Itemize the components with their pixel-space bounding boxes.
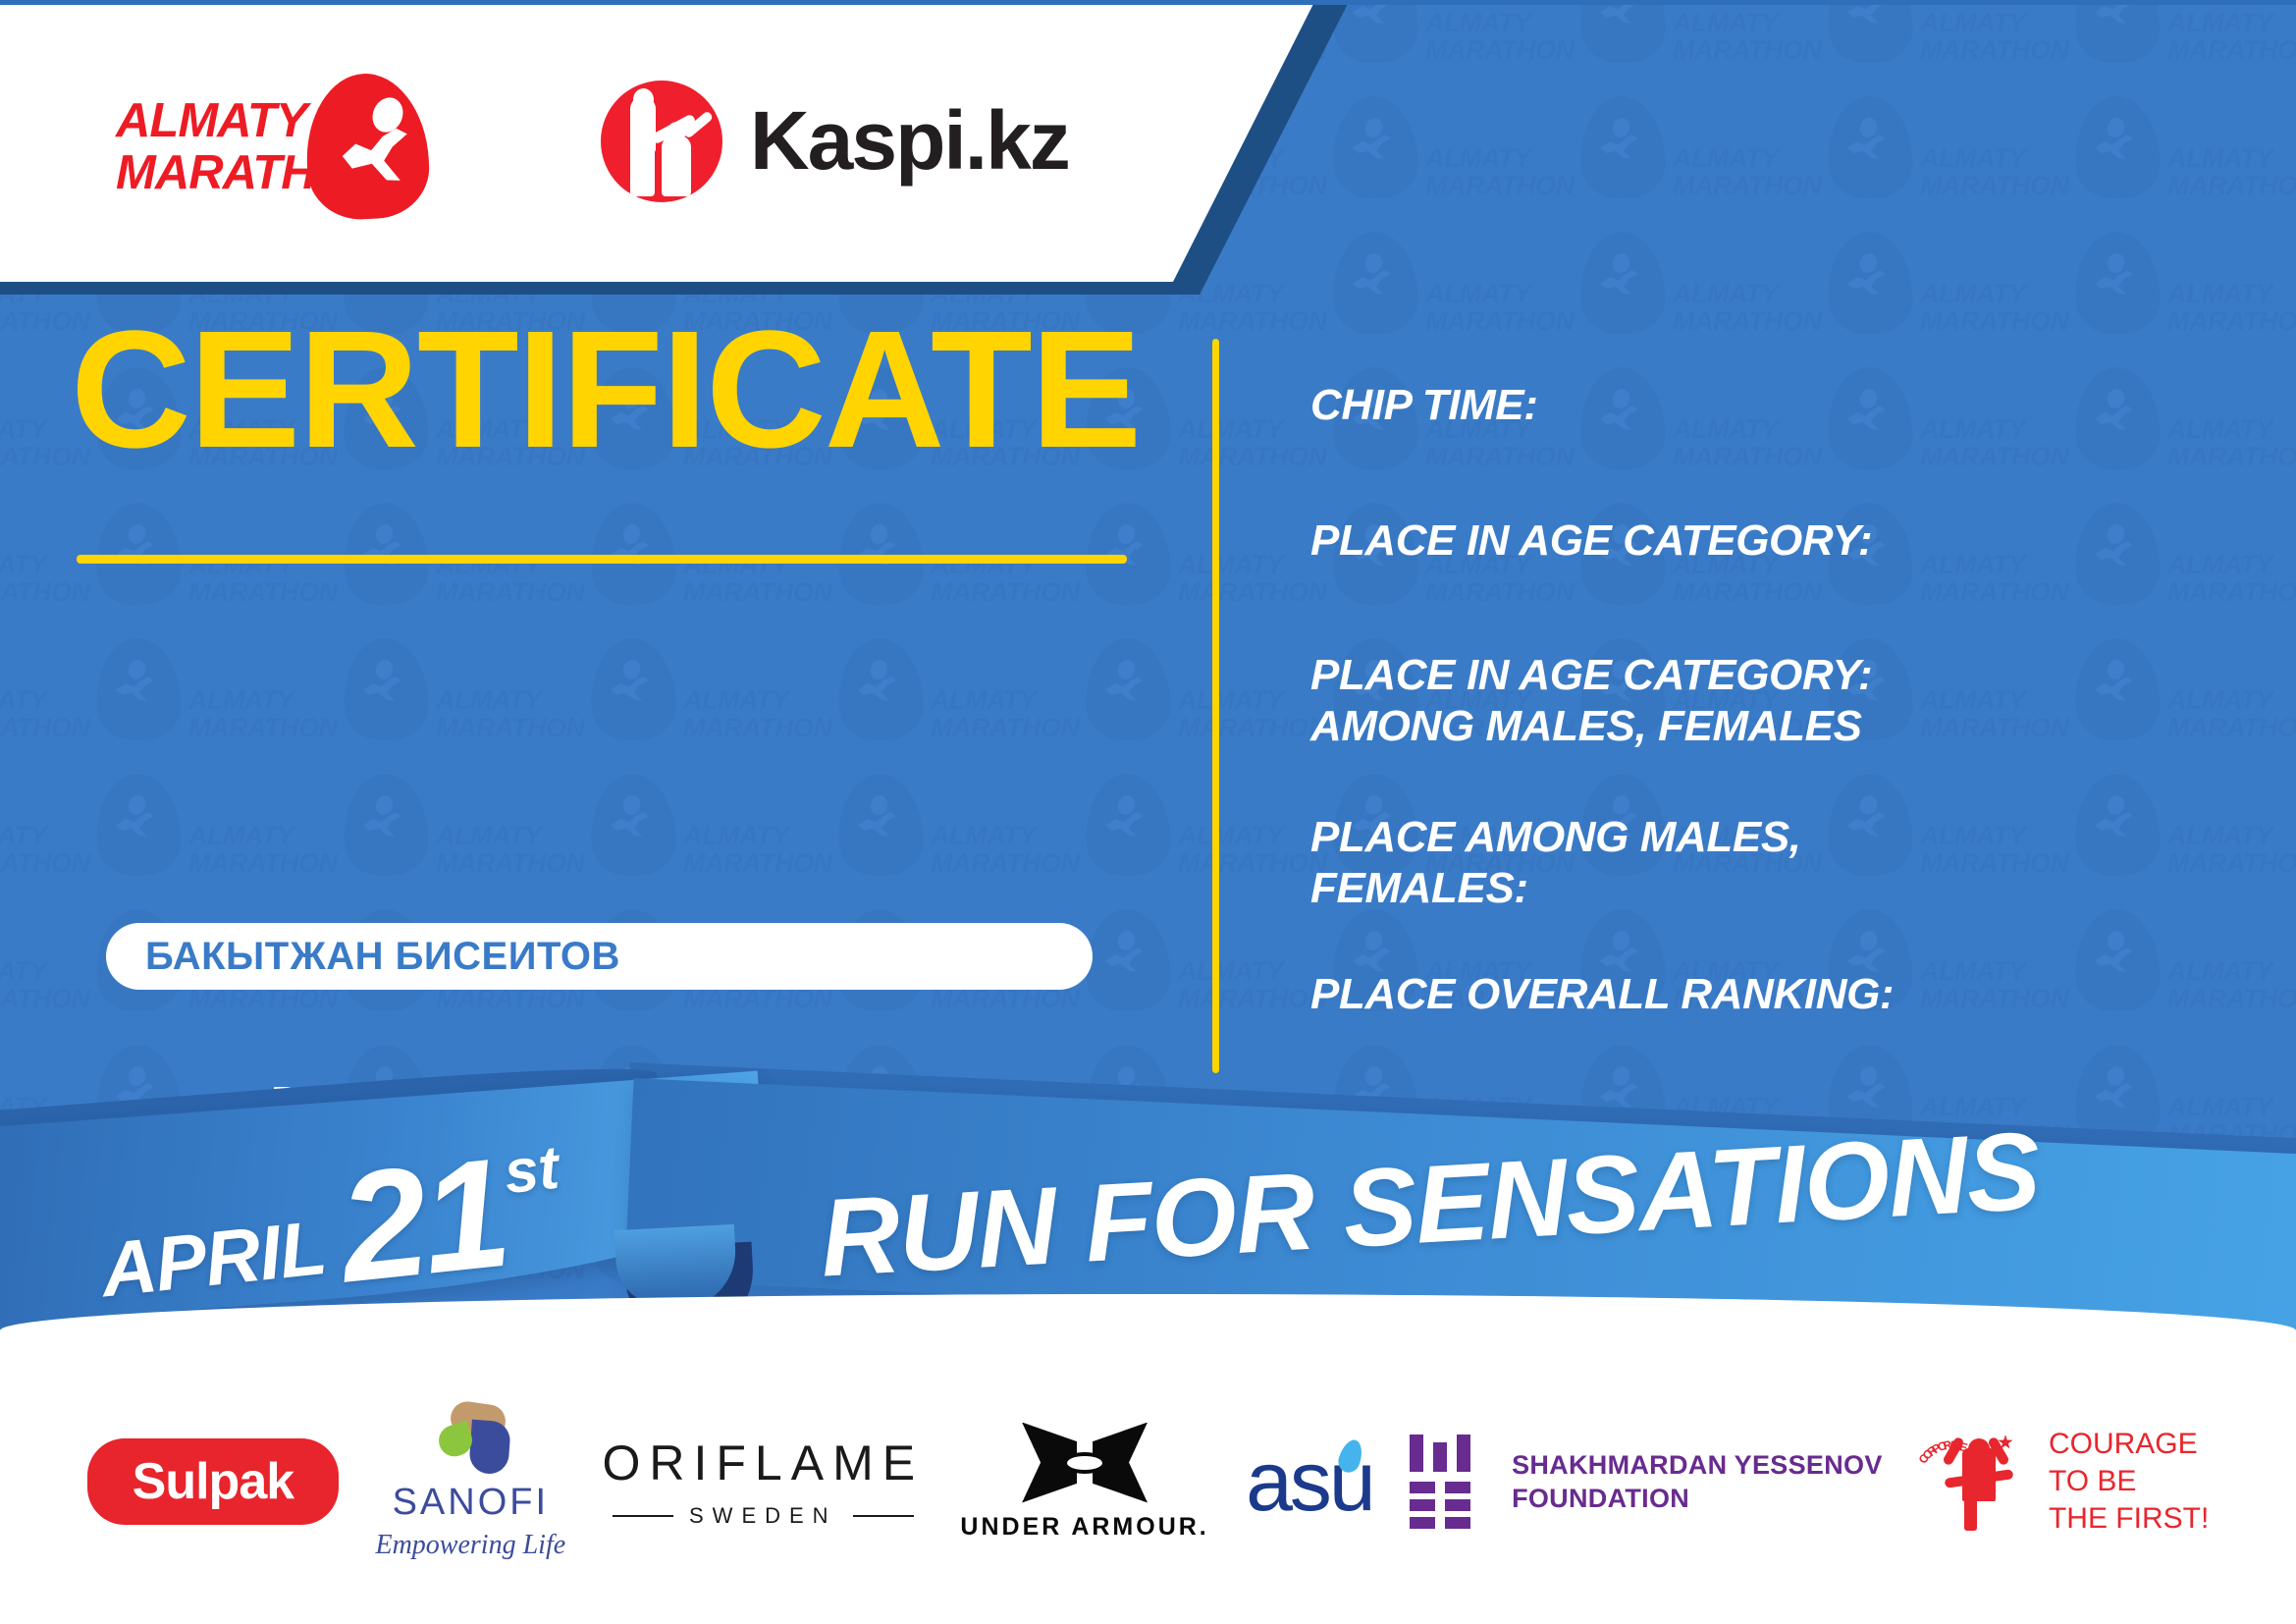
- header-top-line: [0, 0, 2296, 5]
- sponsor-bar: Sulpak SANOFI Empowering Life ORIFLAME S…: [0, 1339, 2296, 1624]
- kaspi-family-icon: [601, 81, 722, 202]
- yessenov-bars-icon: [1410, 1435, 1488, 1529]
- yessenov-line2: FOUNDATION: [1512, 1482, 1883, 1515]
- event-month: APRIL: [97, 1203, 330, 1315]
- place-overall-ranking-label-group: PLACE OVERALL RANKING:: [1310, 969, 1894, 1020]
- kaspi-wordmark: Kaspi.kz: [750, 93, 1069, 189]
- place-among-males-females-line1: PLACE AMONG MALES,: [1310, 812, 1801, 863]
- courage-line3: THE FIRST!: [2049, 1500, 2209, 1538]
- watermark-tile: ALMATYMARATHON: [1920, 96, 2165, 224]
- results-column: CHIP TIME: 01:53:46.00 PLACE IN AGE CATE…: [1239, 282, 2296, 1146]
- watermark-tile: ALMATYMARATHON: [2167, 96, 2296, 224]
- chip-time-label-group: CHIP TIME:: [1310, 380, 1537, 431]
- under-armour-wordmark: UNDER ARMOUR.: [960, 1513, 1208, 1542]
- place-among-males-females-label-group: PLACE AMONG MALES, FEMALES:: [1310, 812, 1801, 914]
- oriflame-rule-right: [853, 1515, 914, 1517]
- sponsor-sulpak: Sulpak: [87, 1438, 340, 1525]
- column-divider: [1212, 339, 1219, 1073]
- runner-drop-icon: [302, 70, 432, 221]
- watermark-tile: ALMATYMARATHON: [1673, 96, 1918, 224]
- title-underline: [77, 555, 1127, 564]
- under-armour-icon: [1022, 1423, 1148, 1503]
- courage-line1: COURAGE: [2049, 1426, 2209, 1463]
- watermark-tile: ALMATYMARATHON: [1425, 0, 1671, 88]
- sponsor-oriflame: ORIFLAME SWEDEN: [602, 1435, 924, 1529]
- left-column: CERTIFICATE БАКЫТЖАН БИСЕИТОВ DISTANCE: …: [0, 282, 1207, 1146]
- place-age-category-label-group: PLACE IN AGE CATEGORY:: [1310, 515, 1872, 567]
- sanofi-icon: [429, 1403, 511, 1474]
- watermark-tile: ALMATYMARATHON: [1425, 96, 1671, 224]
- place-age-category-label: PLACE IN AGE CATEGORY:: [1310, 515, 1872, 567]
- header-logos: ALMATY MARATHON Kaspi.kz: [0, 0, 1178, 282]
- courage-runner-icon: CORPORATE FUND: [1919, 1427, 2035, 1537]
- participant-name-field: БАКЫТЖАН БИСЕИТОВ: [106, 923, 1093, 990]
- watermark-tile: ALMATYMARATHON: [2167, 0, 2296, 88]
- sponsor-under-armour: UNDER ARMOUR.: [960, 1423, 1208, 1542]
- ribbon-banner: APRIL 21 st RUN FOR SENSATIONS: [0, 1080, 2296, 1375]
- place-overall-ranking-label: PLACE OVERALL RANKING:: [1310, 969, 1894, 1020]
- sponsor-courage-fund: CORPORATE FUND COURAGE TO BE THE FIRST!: [1919, 1426, 2209, 1538]
- almaty-marathon-logo: ALMATY MARATHON: [116, 68, 440, 215]
- chip-time-label: CHIP TIME:: [1310, 380, 1537, 431]
- sponsor-sanofi: SANOFI Empowering Life: [375, 1403, 565, 1561]
- sanofi-wordmark: SANOFI: [375, 1482, 565, 1524]
- sponsor-yessenov-foundation: SHAKHMARDAN YESSENOV FOUNDATION: [1410, 1435, 1883, 1529]
- watermark-tile: ALMATYMARATHON: [1673, 0, 1918, 88]
- yessenov-line1: SHAKHMARDAN YESSENOV: [1512, 1448, 1883, 1482]
- sulpak-wordmark: Sulpak: [87, 1438, 340, 1525]
- courage-line2: TO BE: [2049, 1463, 2209, 1500]
- place-age-category-among-label-group: PLACE IN AGE CATEGORY: AMONG MALES, FEMA…: [1310, 650, 1872, 752]
- participant-name-value: БАКЫТЖАН БИСЕИТОВ: [145, 935, 620, 979]
- oriflame-sweden-text: SWEDEN: [689, 1503, 837, 1529]
- event-day-suffix: st: [501, 1133, 561, 1208]
- page-title: CERTIFICATE: [71, 306, 1140, 473]
- oriflame-rule-left: [613, 1515, 673, 1517]
- place-age-category-among-line1: PLACE IN AGE CATEGORY:: [1310, 650, 1872, 701]
- place-age-category-among-line2: AMONG MALES, FEMALES: [1310, 701, 1872, 752]
- certificate-canvas: ALMATYMARATHONALMATYMARATHONALMATYMARATH…: [0, 0, 2296, 1624]
- sponsor-asu: asu: [1246, 1434, 1373, 1531]
- kaspi-logo: Kaspi.kz: [601, 81, 1069, 202]
- event-day: 21: [335, 1148, 512, 1294]
- oriflame-wordmark: ORIFLAME: [602, 1435, 924, 1491]
- watermark-tile: ALMATYMARATHON: [1920, 0, 2165, 88]
- place-among-males-females-line2: FEMALES:: [1310, 863, 1801, 914]
- sanofi-tagline: Empowering Life: [375, 1530, 565, 1561]
- certificate-body: CERTIFICATE БАКЫТЖАН БИСЕИТОВ DISTANCE: …: [0, 282, 2296, 1146]
- oriflame-sub: SWEDEN: [602, 1503, 924, 1529]
